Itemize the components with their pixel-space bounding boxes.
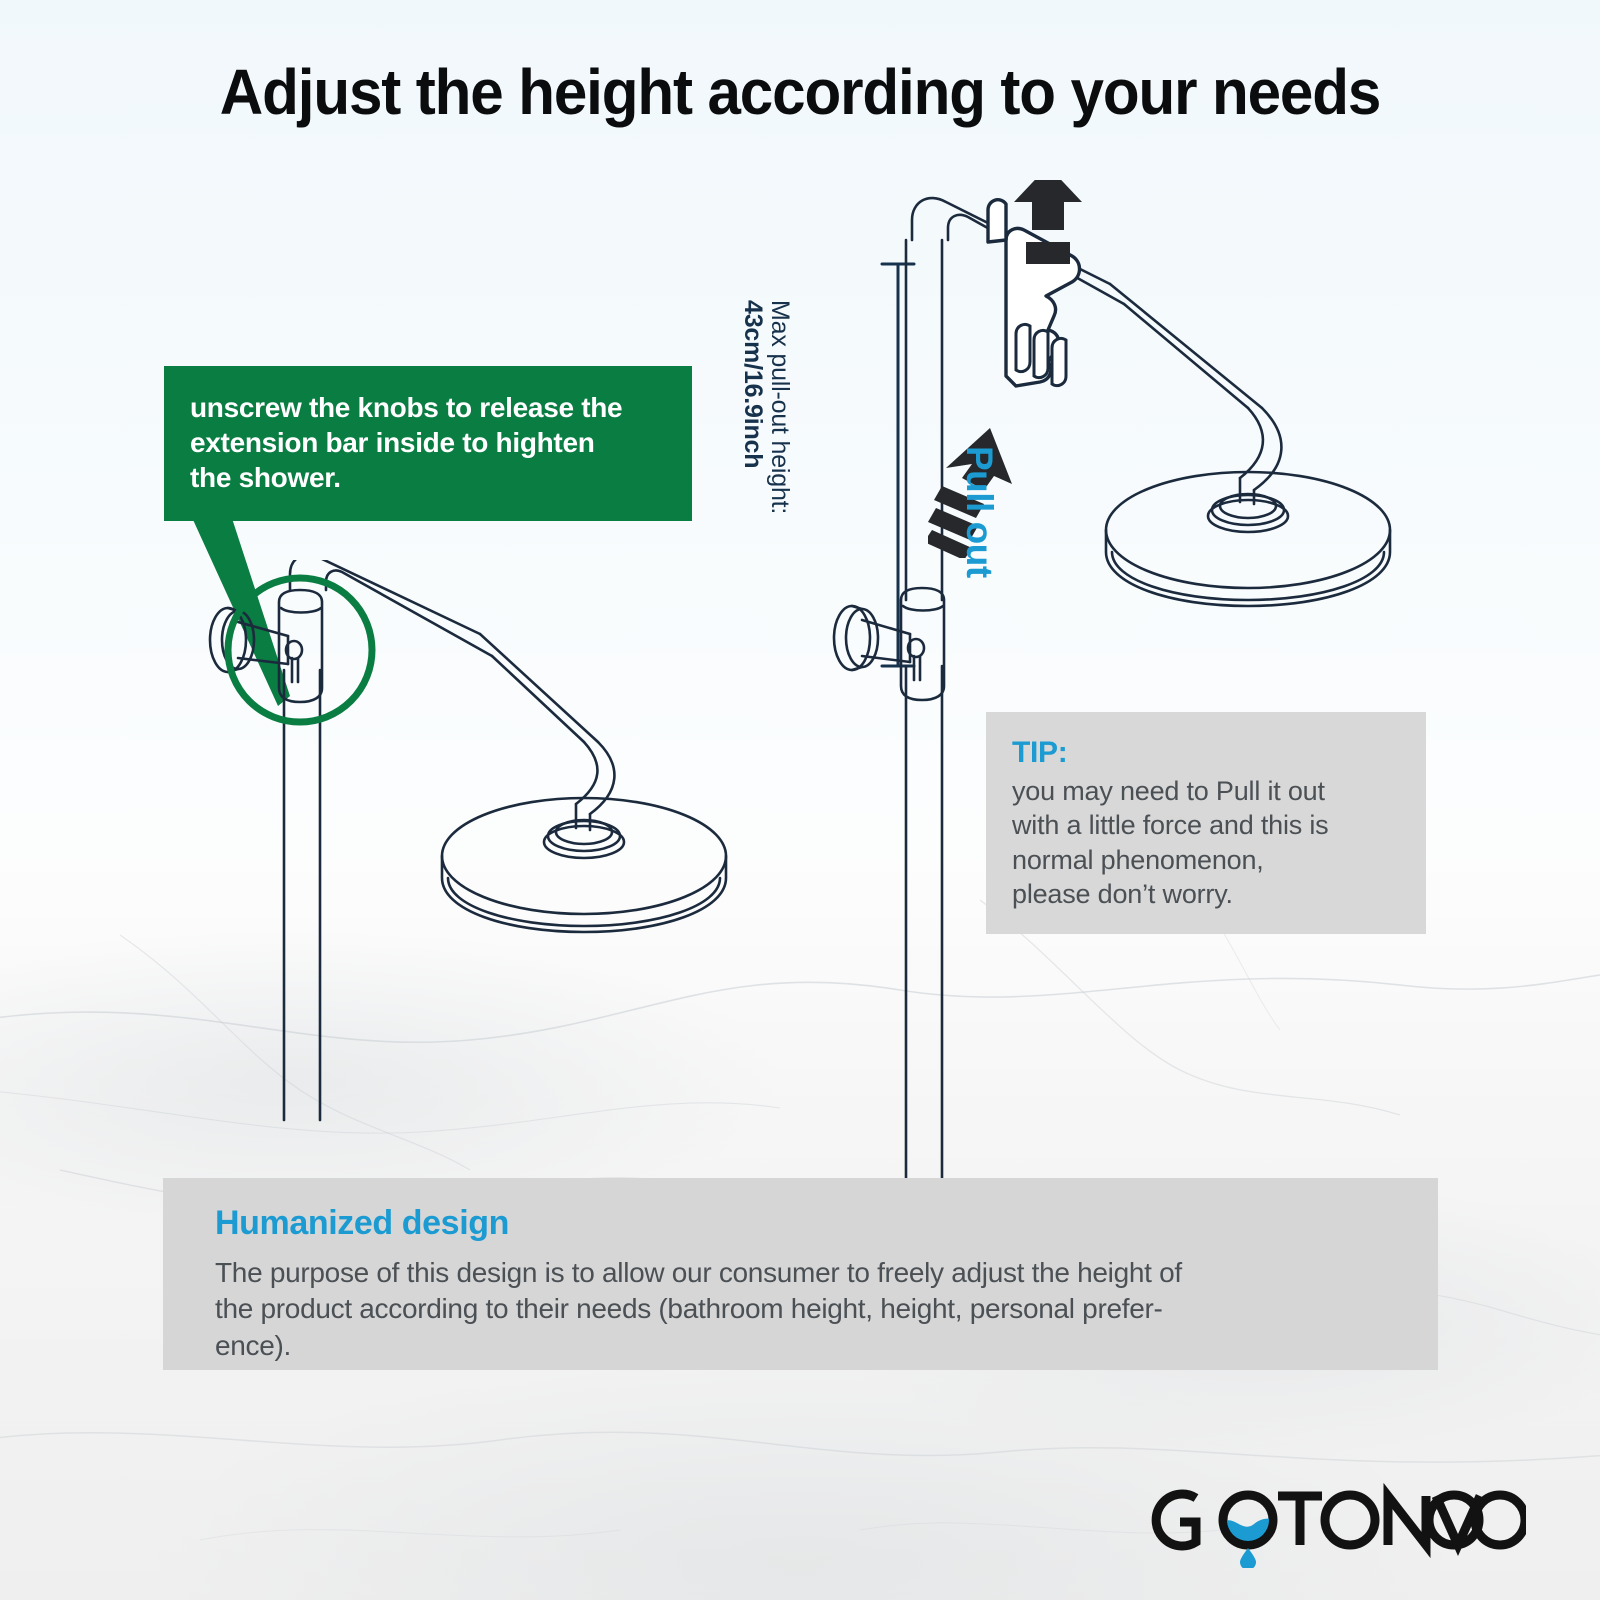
max-pullout-height-label: Max pull-out height: 43cm/16.9inch [739,300,793,514]
page-title: Adjust the height according to your need… [48,55,1552,129]
measure-label-value: 43cm/16.9inch [739,300,766,514]
humanized-design-panel: Humanized design The purpose of this des… [163,1178,1438,1370]
gotonovo-logo [1136,1472,1526,1568]
tip-line-3: normal phenomenon, [1012,843,1400,877]
shower-lowered-diagram [180,560,780,1180]
humanized-line-2: the product according to their needs (ba… [215,1291,1386,1327]
callout-line-1: unscrew the knobs to release the [190,390,666,425]
tip-line-2: with a little force and this is [1012,808,1400,842]
tip-heading: TIP: [1012,736,1400,770]
pull-out-label: Pull out [958,446,1000,578]
humanized-line-3: ence). [215,1328,1386,1364]
humanized-line-1: The purpose of this design is to allow o… [215,1255,1386,1291]
humanized-heading: Humanized design [215,1204,1386,1243]
callout-unscrew-knobs: unscrew the knobs to release the extensi… [164,366,692,521]
callout-line-2: extension bar inside to highten [190,425,666,460]
tip-line-1: you may need to Pull it out [1012,774,1400,808]
shower-extended-diagram [810,180,1430,1190]
tip-line-4: please don’t worry. [1012,877,1400,911]
tip-panel: TIP: you may need to Pull it out with a … [986,712,1426,934]
callout-line-3: the shower. [190,460,666,495]
infographic-canvas: Adjust the height according to your need… [0,0,1600,1600]
measure-label-text: Max pull-out height: [766,300,793,514]
